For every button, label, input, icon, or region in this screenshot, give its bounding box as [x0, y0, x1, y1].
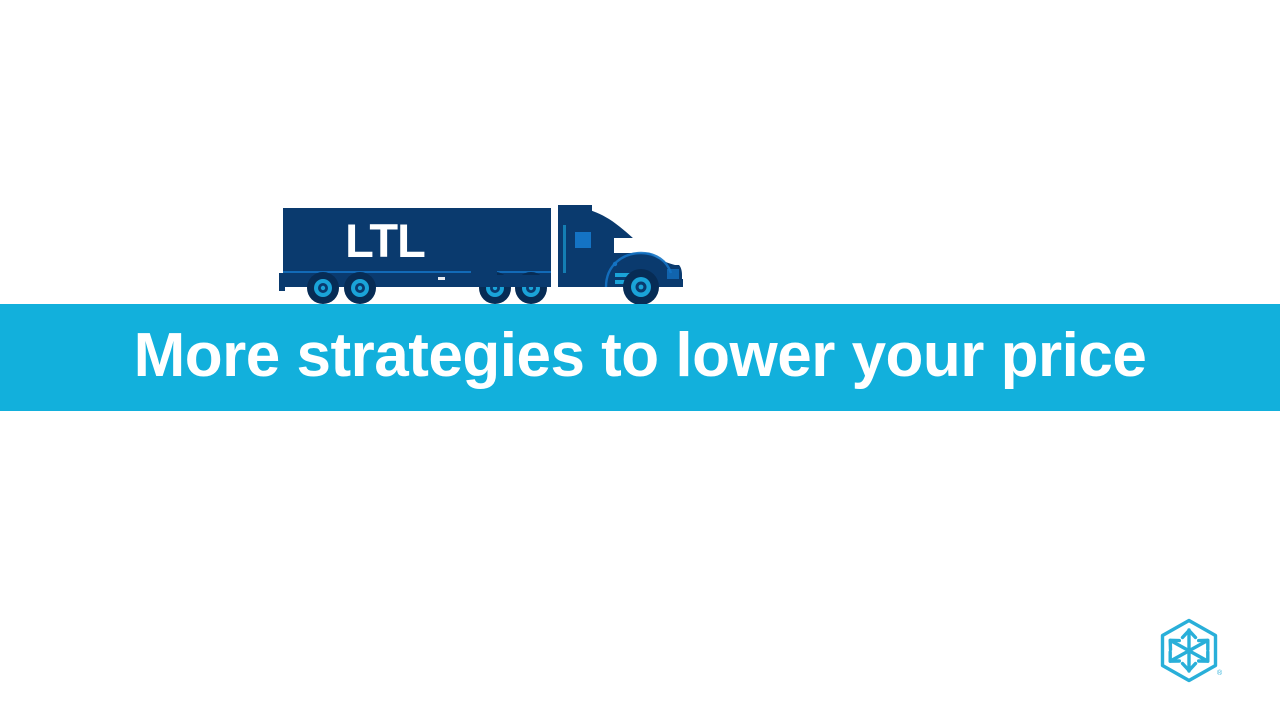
steer-wheel-hub-dot: [639, 285, 644, 290]
trailer-wheel-front-hub-dot: [358, 286, 362, 290]
fifth-wheel-plate: [471, 267, 497, 277]
sleeper-window: [575, 232, 591, 248]
front-bumper: [661, 279, 683, 287]
trailer-ltl-label: LTL: [345, 214, 425, 267]
brand-logo: ®: [1157, 617, 1223, 689]
trailer-wheel-rear-hub-dot: [321, 286, 325, 290]
semi-truck-illustration: LTL: [275, 195, 695, 310]
cab-trailer-gap: [551, 205, 558, 287]
tractor-steer-wheel: [623, 269, 659, 305]
tractor-cab-group: [551, 205, 683, 287]
slide-canvas: LTL More strategies to lower your price: [0, 0, 1280, 720]
headline-band: More strategies to lower your price: [0, 304, 1280, 411]
trailer-marker-light: [438, 277, 445, 280]
registered-trademark-mark: ®: [1217, 669, 1223, 677]
cab-door-window: [614, 238, 651, 253]
exhaust-stack: [563, 225, 566, 273]
headline-title: More strategies to lower your price: [134, 325, 1147, 391]
trailer-rear-post: [279, 273, 285, 291]
